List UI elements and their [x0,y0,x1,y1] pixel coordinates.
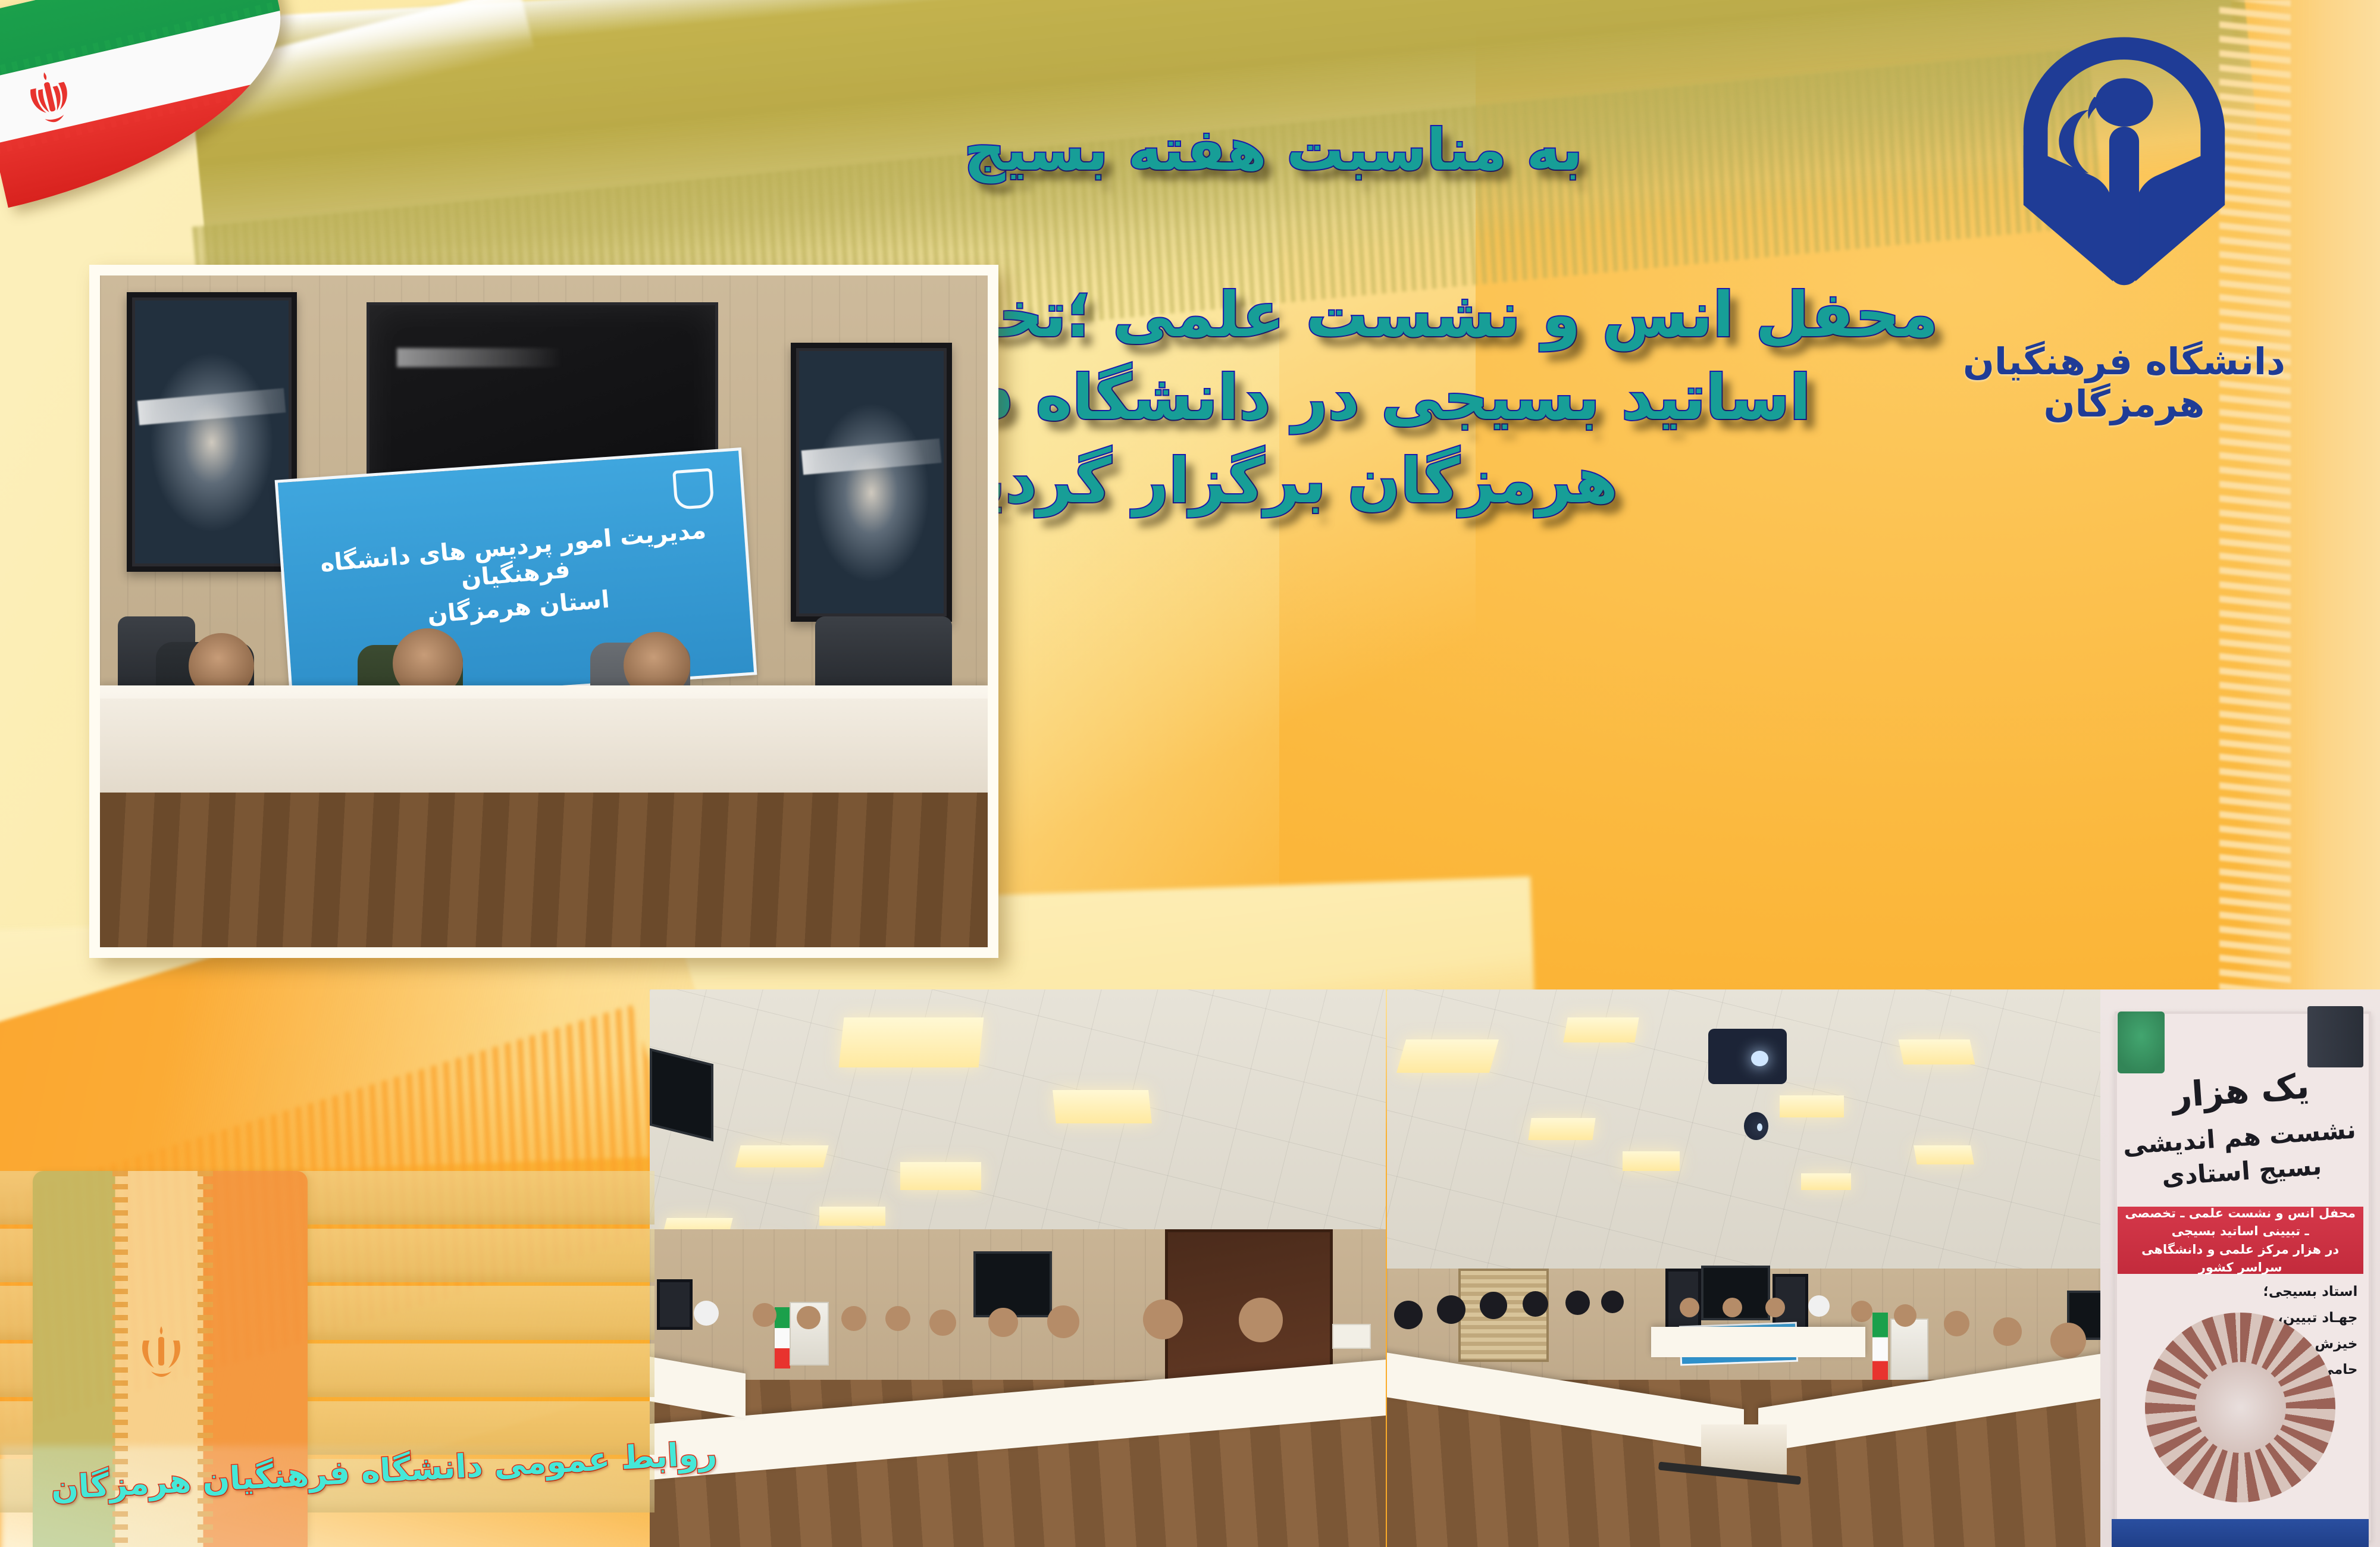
person-head [1894,1304,1916,1327]
logo-caption: دانشگاه فرهنگیان هرمزگان [1940,340,2309,425]
ceiling-light [1528,1118,1595,1140]
corner-television [650,1048,713,1141]
air-conditioner [1890,1319,1928,1388]
person-head [1944,1311,1969,1336]
wall-television [973,1251,1052,1317]
portrait-khamenei [791,343,953,622]
ceiling-light [1563,1017,1639,1042]
conference-table-head [1651,1327,1865,1358]
person-head [988,1308,1017,1337]
iran-emblem-icon [131,1321,191,1381]
poster-canvas: دانشگاه فرهنگیان هرمزگان به مناسبت هفته … [0,0,2380,1547]
poster-leaders-portrait [2307,1006,2363,1067]
portrait-khomeini [127,292,297,572]
person-head [1239,1298,1283,1342]
event-poster-photo: یک هزار نشست هم اندیشی بسیج استادی محفل … [2100,989,2380,1547]
ceiling-light [838,1017,984,1067]
farhangian-book-arch-icon [1984,18,2264,351]
person-head [1808,1295,1830,1317]
ceiling-light [1623,1151,1680,1172]
logo-line-1: دانشگاه فرهنگیان [1940,340,2309,383]
logo-line-2: هرمزگان [1940,383,2309,425]
desk-baseboard [100,699,988,793]
portrait-image [135,300,289,563]
poster-title-line-2: نشست هم اندیشی بسیج استادی [2115,1113,2365,1197]
banner-line-1: مدیریت امور پردیس های دانشگاه فرهنگیان [294,515,735,607]
person-head [1394,1301,1423,1329]
university-logo: دانشگاه فرهنگیان هرمزگان [1940,18,2309,506]
bottom-photo-strip: یک هزار نشست هم اندیشی بسیج استادی محفل … [649,989,2380,1547]
poster-title-line-1: یک هزار [2116,1059,2365,1123]
light-switch [1332,1324,1371,1348]
person-head [1601,1291,1624,1313]
ceiling-light [1780,1095,1844,1117]
poster-red-banner: محفل انس و نشست علمی ـ تخصصی ـ تبیینی اس… [2118,1207,2363,1273]
portrait-khamenei [657,1279,692,1330]
poster-blue-footer [2112,1519,2369,1547]
poster-circular-emblem [2145,1313,2335,1502]
poster-organization-logo-icon [2118,1011,2165,1073]
room-scene [650,989,1386,1547]
person-head [2050,1323,2086,1358]
person-head [1143,1299,1183,1339]
conference-room-wide-photo [1387,989,2100,1547]
occasion-heading-block: به مناسبت هفته بسیج [583,119,1963,182]
person-head [929,1310,956,1336]
ceiling-light [1396,1039,1499,1073]
person-head [1565,1291,1590,1315]
ceiling-light [1898,1039,1975,1064]
person-head [1851,1301,1872,1322]
ceiling-light [735,1145,829,1167]
poster-redbar-line-2: در هزار مرکز علمی و دانشگاهی سراسر کشور [2122,1241,2359,1277]
ceiling-light [1914,1145,1974,1164]
ceiling-camera [1744,1112,1768,1140]
person-head [1480,1292,1507,1319]
ceiling-light [900,1162,981,1190]
poster-board: یک هزار نشست هم اندیشی بسیج استادی محفل … [2100,989,2380,1547]
head-table-meeting-photo: مدیریت امور پردیس های دانشگاه فرهنگیان ا… [89,265,998,958]
wood-panel [100,793,988,947]
iran-flag-stand [775,1307,790,1368]
ceiling-light [819,1207,885,1226]
portrait-image [799,351,944,614]
poster-title: یک هزار نشست هم اندیشی بسیج استادی [2118,1067,2363,1189]
iran-flag-stand [1872,1313,1888,1385]
photo-content: مدیریت امور پردیس های دانشگاه فرهنگیان ا… [100,275,988,947]
person-head [1437,1295,1465,1324]
poster-redbar-line-1: محفل انس و نشست علمی ـ تخصصی ـ تبیینی اس… [2122,1204,2359,1241]
person-head [797,1306,821,1330]
ceiling-light [1801,1173,1851,1190]
conference-room-attendees-photo [650,989,1386,1547]
ceiling-projector [1708,1029,1787,1085]
person-head [1047,1305,1079,1338]
person-head [841,1306,866,1331]
ceiling-light [1053,1090,1152,1123]
poster-list-heading: استاد بسیجی؛ [2218,1279,2358,1305]
occasion-heading: به مناسبت هفته بسیج [583,119,1963,182]
room-scene [1387,989,2100,1547]
person-head [753,1303,776,1327]
